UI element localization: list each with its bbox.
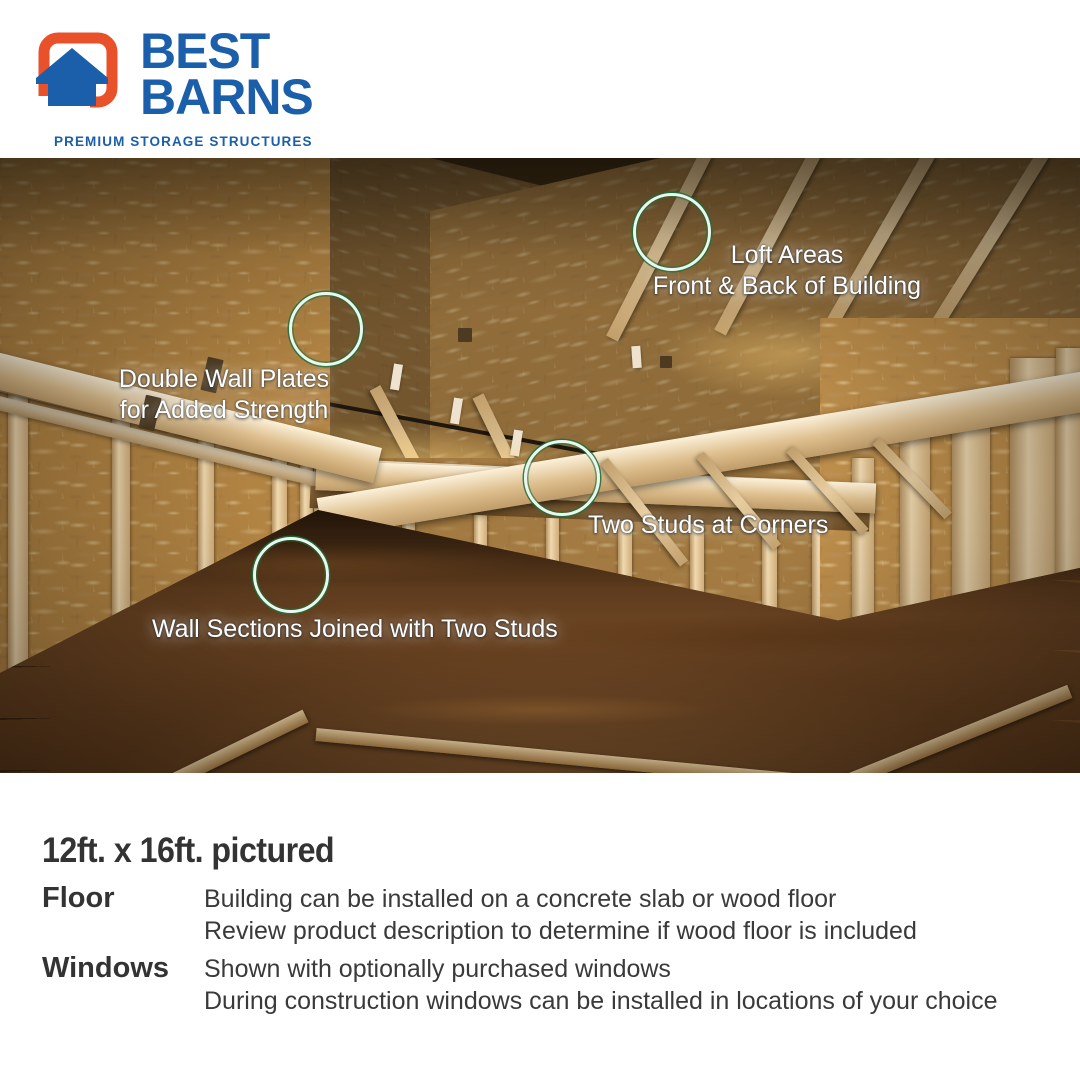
info-term-windows: Windows bbox=[42, 952, 169, 985]
annotation-line: Double Wall Plates bbox=[110, 364, 338, 395]
page-header: BEST BARNS PREMIUM STORAGE STRUCTURES bbox=[0, 0, 1080, 158]
logo-text-best: BEST bbox=[140, 28, 320, 74]
product-info-block: 12ft. x 16ft. pictured Floor Building ca… bbox=[0, 773, 1080, 1080]
info-definition-line: Review product description to determine … bbox=[204, 916, 917, 948]
info-definition-line: Building can be installed on a concrete … bbox=[204, 884, 917, 916]
annotation-line: Front & Back of Building bbox=[641, 271, 933, 302]
annotation-label-two-studs-corners: Two Studs at Corners bbox=[588, 510, 828, 541]
logo-wordmark: BEST BARNS bbox=[140, 22, 320, 134]
annotation-label-loft-areas: Loft Areas Front & Back of Building bbox=[641, 240, 933, 301]
joist-hanger bbox=[660, 356, 672, 368]
info-term-floor: Floor bbox=[42, 882, 115, 915]
info-definition-line: Shown with optionally purchased windows bbox=[204, 954, 997, 986]
photo-scene: Loft Areas Front & Back of Building Doub… bbox=[0, 158, 1080, 773]
annotation-line: Two Studs at Corners bbox=[588, 510, 828, 541]
truss-plate bbox=[631, 346, 642, 369]
best-barns-logo[interactable]: BEST BARNS PREMIUM STORAGE STRUCTURES bbox=[26, 22, 306, 134]
annotation-circle-double-wall-plates bbox=[289, 292, 363, 366]
joist-hanger bbox=[458, 328, 472, 342]
shed-interior-photo: Loft Areas Front & Back of Building Doub… bbox=[0, 158, 1080, 773]
info-definitions-floor: Building can be installed on a concrete … bbox=[204, 884, 917, 947]
pictured-size-title: 12ft. x 16ft. pictured bbox=[42, 831, 334, 871]
info-definitions-windows: Shown with optionally purchased windows … bbox=[204, 954, 997, 1017]
annotation-label-double-wall-plates: Double Wall Plates for Added Strength bbox=[110, 364, 338, 425]
info-definition-line: During construction windows can be insta… bbox=[204, 986, 997, 1018]
annotation-line: Loft Areas bbox=[641, 240, 933, 271]
logo-text-barns: BARNS bbox=[140, 74, 320, 120]
annotation-circle-wall-sections-joined bbox=[253, 537, 329, 613]
annotation-line: for Added Strength bbox=[110, 395, 338, 426]
barn-house-icon bbox=[26, 26, 126, 118]
logo-tagline: PREMIUM STORAGE STRUCTURES bbox=[54, 134, 313, 149]
annotation-label-wall-sections-joined: Wall Sections Joined with Two Studs bbox=[152, 614, 558, 645]
annotation-line: Wall Sections Joined with Two Studs bbox=[152, 614, 558, 645]
annotation-circle-two-studs-corners bbox=[524, 440, 600, 516]
